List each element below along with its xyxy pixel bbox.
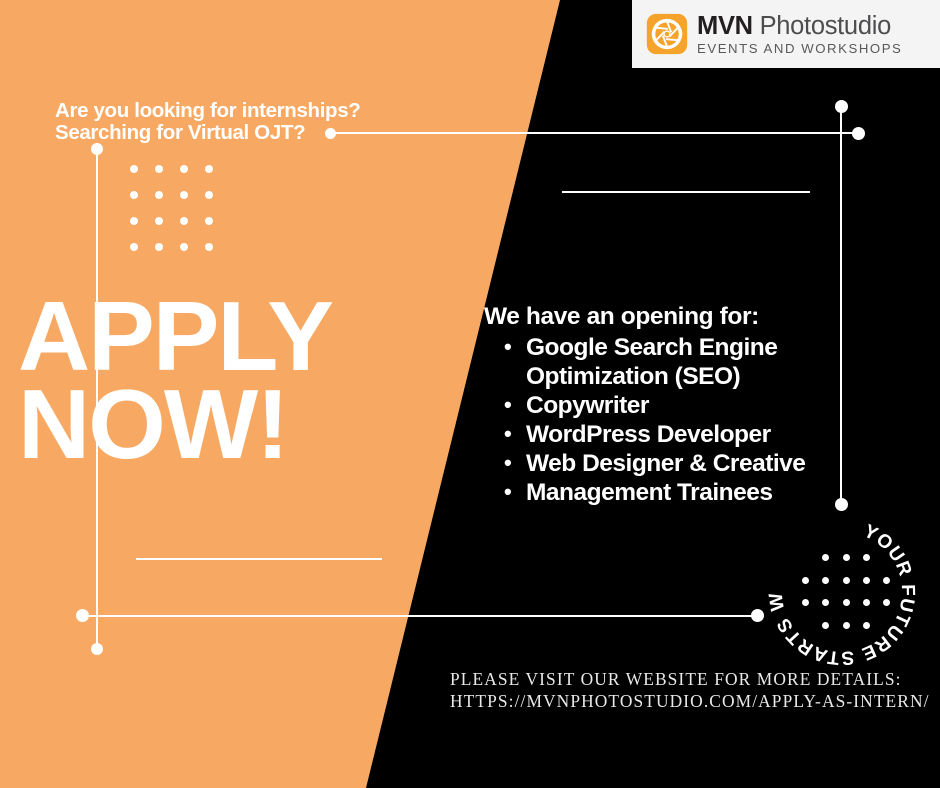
list-item: Management Trainees: [484, 478, 884, 507]
opening-label: Copywriter: [526, 392, 649, 419]
footer-line-1: PLEASE VISIT OUR WEBSITE FOR MORE DETAIL…: [450, 668, 930, 690]
right-vertical-line-top-dot: [835, 100, 848, 113]
headline-line-2: Searching for Virtual OJT?: [55, 122, 360, 144]
lower-horizontal-connector-line: [82, 615, 758, 617]
circular-badge: YOUR FUTURE STARTS WITH US!: [764, 514, 920, 670]
lower-line-right-dot: [751, 609, 764, 622]
footer-line-2[interactable]: HTTPS://MVNPHOTOSTUDIO.COM/APPLY-AS-INTE…: [450, 690, 930, 712]
openings-title: We have an opening for:: [484, 303, 884, 331]
left-panel-short-divider-line: [136, 558, 382, 560]
headline-questions: Are you looking for internships? Searchi…: [55, 100, 360, 143]
openings-list: Google Search Engine Optimization (SEO) …: [484, 333, 884, 507]
opening-label: Google Search Engine: [526, 334, 777, 361]
list-item: Web Designer & Creative: [484, 449, 884, 478]
footer-website-note: PLEASE VISIT OUR WEBSITE FOR MORE DETAIL…: [450, 668, 930, 712]
logo-subtitle: EVENTS AND WORKSHOPS: [697, 41, 902, 56]
left-vertical-line-top-dot: [91, 143, 103, 155]
opening-label: Web Designer & Creative: [526, 450, 805, 477]
cta-apply-now: APPLY NOW!: [18, 292, 332, 468]
headline-line-end-dot: [852, 127, 865, 140]
logo-wordmark: MVN Photostudio EVENTS AND WORKSHOPS: [697, 13, 902, 56]
list-item: Copywriter: [484, 391, 884, 420]
headline-line-1: Are you looking for internships?: [55, 100, 360, 122]
headline-horizontal-connector-line: [330, 132, 860, 134]
logo-panel: MVN Photostudio EVENTS AND WORKSHOPS: [632, 0, 940, 68]
left-vertical-line-bottom-dot: [91, 643, 103, 655]
cta-line-2: NOW!: [18, 380, 332, 468]
right-panel-short-divider-line: [562, 191, 810, 193]
openings-section: We have an opening for: Google Search En…: [484, 303, 884, 507]
logo-brand-light: Photostudio: [760, 12, 891, 40]
poster-canvas: MVN Photostudio EVENTS AND WORKSHOPS Are…: [0, 0, 940, 788]
lower-line-left-dot: [76, 609, 89, 622]
list-item: WordPress Developer: [484, 420, 884, 449]
badge-dot-grid: [764, 514, 920, 670]
camera-aperture-icon: [646, 13, 688, 55]
opening-label-continued: Optimization (SEO): [526, 362, 884, 391]
cta-line-1: APPLY: [18, 292, 332, 380]
list-item: Google Search Engine Optimization (SEO): [484, 333, 884, 391]
opening-label: WordPress Developer: [526, 421, 771, 448]
opening-label: Management Trainees: [526, 479, 772, 506]
logo-brand-bold: MVN: [697, 12, 753, 40]
